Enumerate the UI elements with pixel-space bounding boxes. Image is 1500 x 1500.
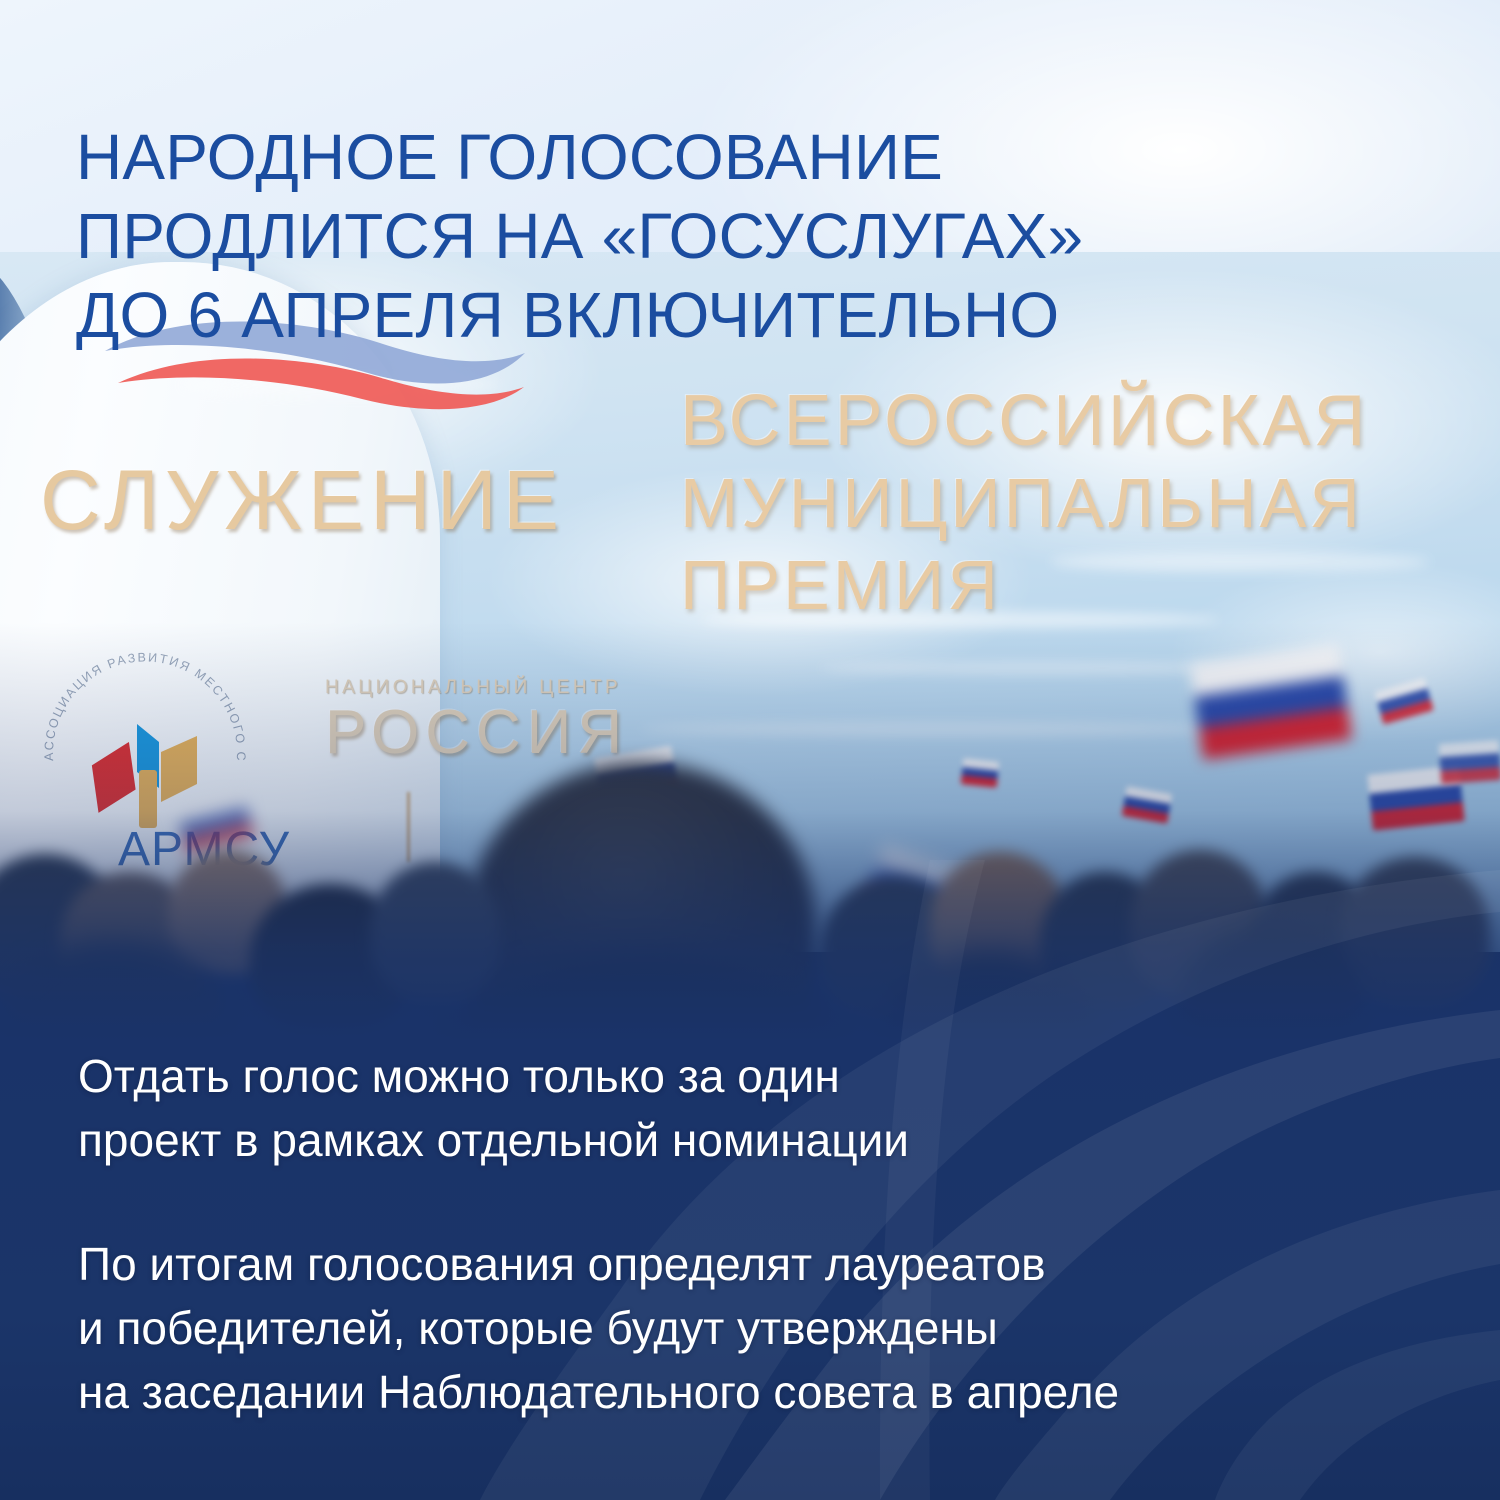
paragraph-two-line-2: и победителей, которые будут утверждены (78, 1296, 1119, 1360)
poster-root: СЛУЖЕНИЕ ВСЕРОССИЙСКАЯ МУНИЦИПАЛЬНАЯ ПРЕ… (0, 0, 1500, 1500)
paragraph-two-line-1: По итогам голосования определят лауреато… (78, 1232, 1119, 1296)
award-title-line-3: ПРЕМИЯ (680, 544, 1369, 626)
info-paragraph-one: Отдать голос можно только за один проект… (78, 1044, 909, 1172)
paragraph-one-line-2: проект в рамках отдельной номинации (78, 1108, 909, 1172)
headline-line-2: ПРОДЛИТСЯ НА «ГОСУСЛУГАХ» (76, 197, 1083, 276)
headline-line-3: ДО 6 АПРЕЛЯ ВКЛЮЧИТЕЛЬНО (76, 276, 1083, 355)
award-title: ВСЕРОССИЙСКАЯ МУНИЦИПАЛЬНАЯ ПРЕМИЯ (680, 380, 1369, 626)
paragraph-one-line-1: Отдать голос можно только за один (78, 1044, 909, 1108)
award-title-line-1: ВСЕРОССИЙСКАЯ (680, 380, 1369, 462)
sluzhenie-wordmark: СЛУЖЕНИЕ (40, 452, 565, 549)
paragraph-two-line-3: на заседании Наблюдательного совета в ап… (78, 1360, 1119, 1424)
headline-line-1: НАРОДНОЕ ГОЛОСОВАНИЕ (76, 118, 1083, 197)
info-paragraph-two: По итогам голосования определят лауреато… (78, 1232, 1119, 1424)
page-title: НАРОДНОЕ ГОЛОСОВАНИЕ ПРОДЛИТСЯ НА «ГОСУС… (76, 118, 1083, 355)
award-title-line-2: МУНИЦИПАЛЬНАЯ (680, 462, 1369, 544)
